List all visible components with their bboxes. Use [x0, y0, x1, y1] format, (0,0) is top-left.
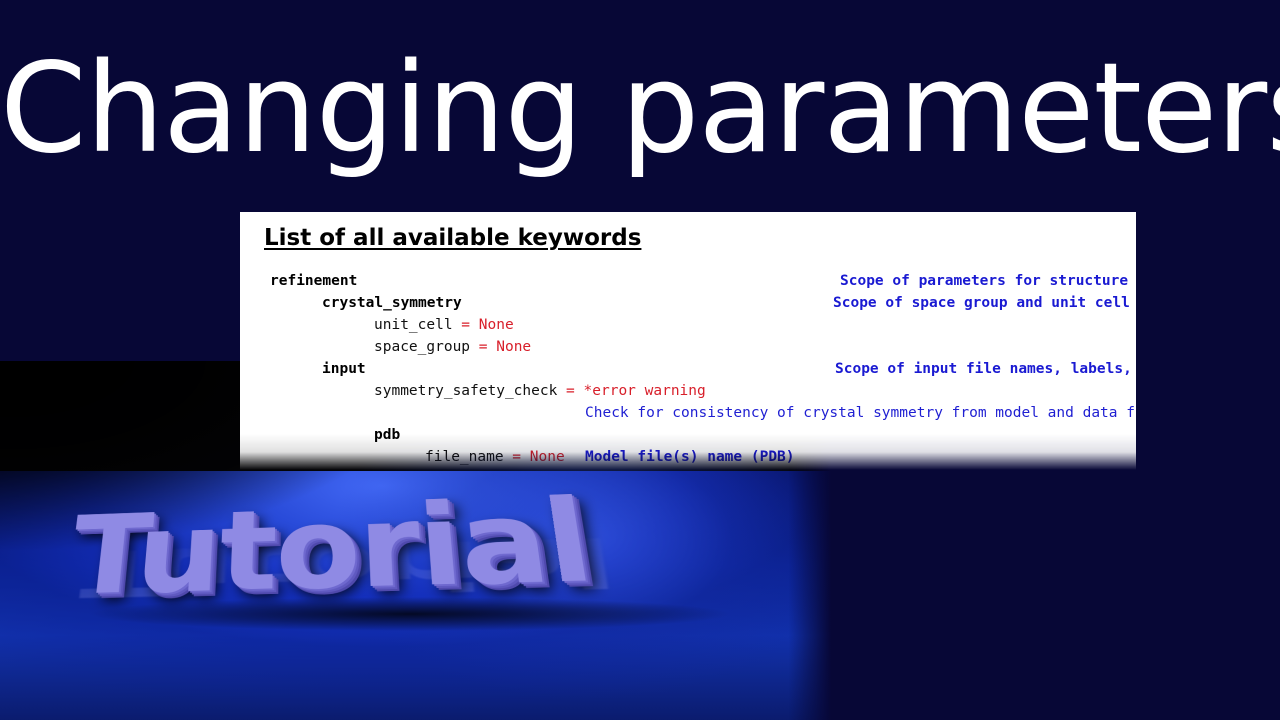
keyword-description: Scope of parameters for structure refine… [840, 270, 1136, 292]
keyword-equals: = [504, 449, 530, 465]
keyword-description: Check for consistency of crystal symmetr… [585, 402, 1136, 424]
keyword-entry: space_group = None [374, 336, 531, 358]
keyword-row: file_name = NoneModel file(s) name (PDB) [240, 446, 1136, 468]
keyword-entry: file_name = None [425, 446, 565, 468]
keyword-name: refinement [270, 273, 357, 289]
keyword-description: Scope of space group and unit cell param… [833, 292, 1136, 314]
presentation-slide: Changing parameters Tutorial Tutorial Li… [0, 0, 1280, 720]
keyword-description: Model file(s) name (PDB) [585, 446, 795, 468]
keyword-entry: refinement [270, 270, 357, 292]
keyword-name: crystal_symmetry [322, 295, 462, 311]
keyword-name: pdb [374, 427, 400, 443]
keyword-equals: = [453, 317, 479, 333]
keyword-list-panel: List of all available keywords refinemen… [240, 212, 1136, 470]
keyword-name: unit_cell [374, 317, 453, 333]
keyword-entry: crystal_symmetry [322, 292, 462, 314]
keyword-description: Scope of input file names, labels, proce… [835, 358, 1136, 380]
keyword-equals: = [557, 383, 583, 399]
keyword-entry: symmetry_safety_check = *error warning [374, 380, 706, 402]
page-title: Changing parameters [0, 34, 1280, 184]
tutorial-word: Tutorial [61, 468, 800, 642]
keyword-equals: = [470, 339, 496, 355]
keyword-row: pdb [240, 424, 1136, 446]
keyword-value: None [530, 449, 565, 465]
keyword-row: crystal_symmetryScope of space group and… [240, 292, 1136, 314]
keyword-entry: pdb [374, 424, 400, 446]
keyword-name: input [322, 361, 366, 377]
keyword-name: symmetry_safety_check [374, 383, 557, 399]
keyword-rows-container: refinementScope of parameters for struct… [240, 270, 1136, 468]
panel-heading: List of all available keywords [264, 223, 641, 253]
keyword-name: file_name [425, 449, 504, 465]
keyword-value: None [479, 317, 514, 333]
keyword-value: *error warning [584, 383, 706, 399]
keyword-row: unit_cell = None [240, 314, 1136, 336]
keyword-name: space_group [374, 339, 470, 355]
keyword-row: space_group = None [240, 336, 1136, 358]
keyword-row: Check for consistency of crystal symmetr… [240, 402, 1136, 424]
keyword-value: None [496, 339, 531, 355]
keyword-row: refinementScope of parameters for struct… [240, 270, 1136, 292]
keyword-entry: unit_cell = None [374, 314, 514, 336]
keyword-row: symmetry_safety_check = *error warning [240, 380, 1136, 402]
keyword-row: inputScope of input file names, labels, … [240, 358, 1136, 380]
keyword-entry: input [322, 358, 366, 380]
